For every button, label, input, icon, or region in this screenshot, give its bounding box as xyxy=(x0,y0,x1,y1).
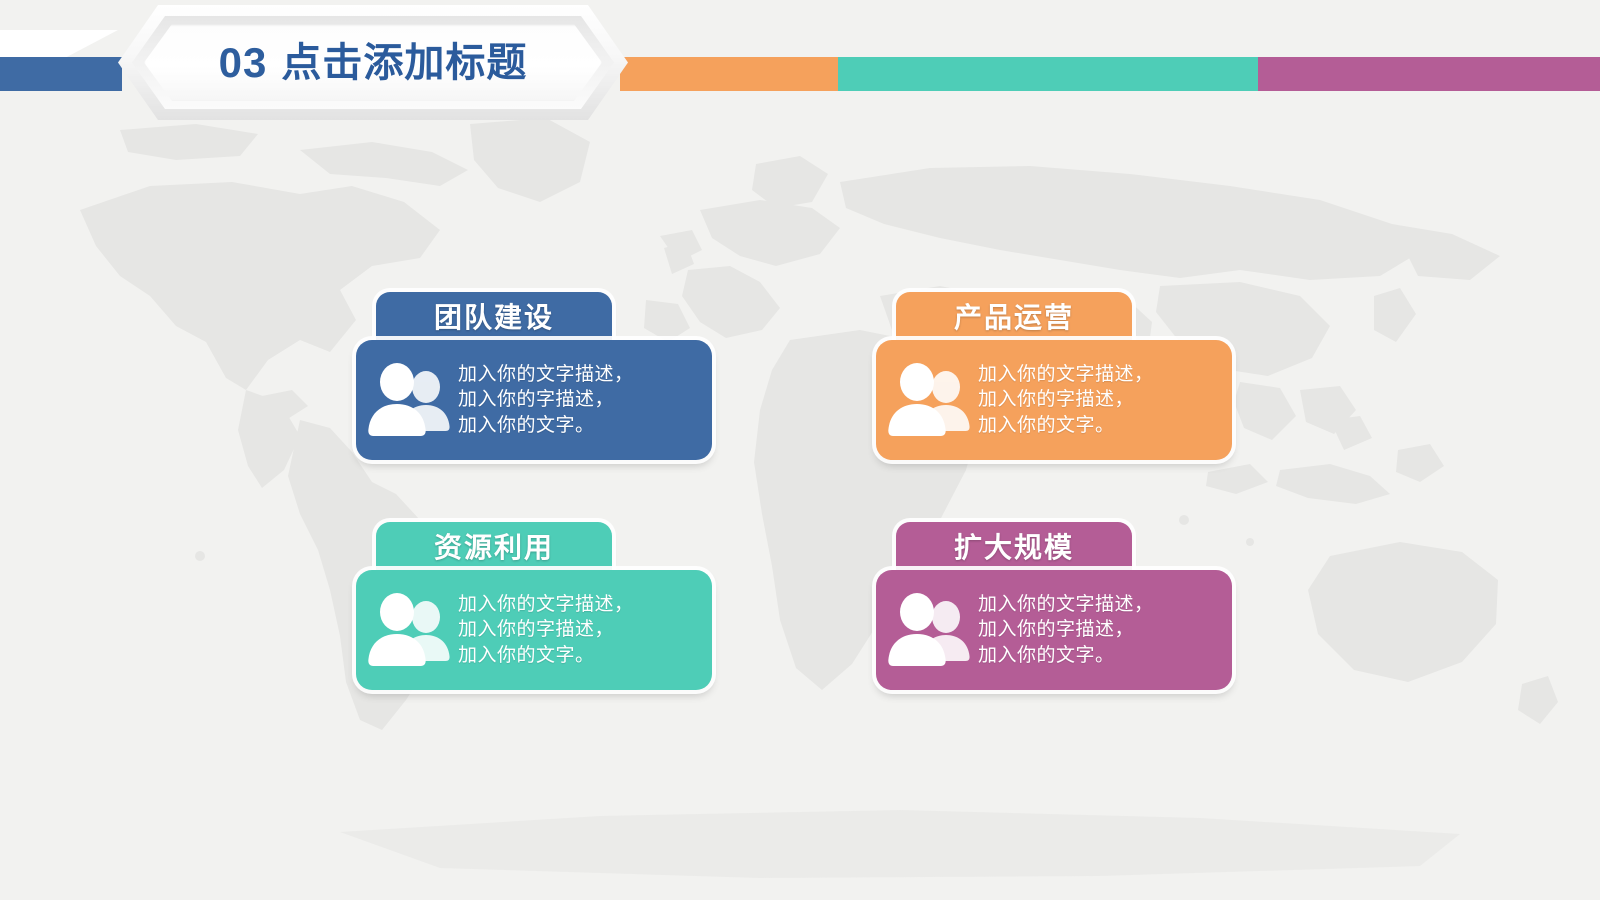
top-left-flash xyxy=(0,30,118,58)
slide-canvas: 03 点击添加标题 团队建设 xyxy=(0,0,1600,900)
card-description: 加入你的文字描述， 加入你的字描述， 加入你的文字。 xyxy=(458,592,712,667)
two-people-icon xyxy=(366,591,458,669)
section-title: 点击添加标题 xyxy=(281,43,527,83)
card-title-label: 团队建设 xyxy=(434,304,554,332)
title-hexagon-plate: 03 点击添加标题 xyxy=(118,5,628,120)
desc-line-3: 加入你的文字。 xyxy=(458,643,698,668)
card-description: 加入你的文字描述， 加入你的字描述， 加入你的文字。 xyxy=(978,592,1232,667)
desc-line-2: 加入你的字描述， xyxy=(978,387,1218,412)
desc-line-1: 加入你的文字描述， xyxy=(458,362,698,387)
card-description: 加入你的文字描述， 加入你的字描述， 加入你的文字。 xyxy=(458,362,712,437)
two-people-icon xyxy=(366,361,458,439)
desc-line-1: 加入你的文字描述， xyxy=(458,592,698,617)
card-description: 加入你的文字描述， 加入你的字描述， 加入你的文字。 xyxy=(978,362,1232,437)
header-bar-blue xyxy=(0,57,122,91)
card-body: 加入你的文字描述， 加入你的字描述， 加入你的文字。 xyxy=(356,340,712,460)
two-people-icon xyxy=(886,591,978,669)
two-people-icon xyxy=(886,361,978,439)
card-body: 加入你的文字描述， 加入你的字描述， 加入你的文字。 xyxy=(876,570,1232,690)
header-bar-teal xyxy=(838,57,1258,91)
desc-line-2: 加入你的字描述， xyxy=(458,617,698,642)
desc-line-2: 加入你的字描述， xyxy=(978,617,1218,642)
card-title-label: 产品运营 xyxy=(954,304,1074,332)
card-title-label: 资源利用 xyxy=(434,534,554,562)
info-card-team-building[interactable]: 团队建设 加入你的文字描述， 加入你的字描述， 加入你的文字。 xyxy=(356,292,712,460)
desc-line-3: 加入你的文字。 xyxy=(458,413,698,438)
section-number: 03 xyxy=(219,42,268,84)
desc-line-1: 加入你的文字描述， xyxy=(978,592,1218,617)
desc-line-3: 加入你的文字。 xyxy=(978,413,1218,438)
header-bar-orange xyxy=(620,57,838,91)
world-map-background xyxy=(0,90,1600,900)
info-card-scale-expansion[interactable]: 扩大规模 加入你的文字描述， 加入你的字描述， 加入你的文字。 xyxy=(876,522,1232,690)
card-body: 加入你的文字描述， 加入你的字描述， 加入你的文字。 xyxy=(356,570,712,690)
card-body: 加入你的文字描述， 加入你的字描述， 加入你的文字。 xyxy=(876,340,1232,460)
page-title: 03 点击添加标题 xyxy=(144,24,602,101)
info-card-resource-utilization[interactable]: 资源利用 加入你的文字描述， 加入你的字描述， 加入你的文字。 xyxy=(356,522,712,690)
desc-line-1: 加入你的文字描述， xyxy=(978,362,1218,387)
info-card-product-operation[interactable]: 产品运营 加入你的文字描述， 加入你的字描述， 加入你的文字。 xyxy=(876,292,1232,460)
desc-line-2: 加入你的字描述， xyxy=(458,387,698,412)
header-bar-purple xyxy=(1258,57,1600,91)
card-title-label: 扩大规模 xyxy=(954,534,1074,562)
desc-line-3: 加入你的文字。 xyxy=(978,643,1218,668)
